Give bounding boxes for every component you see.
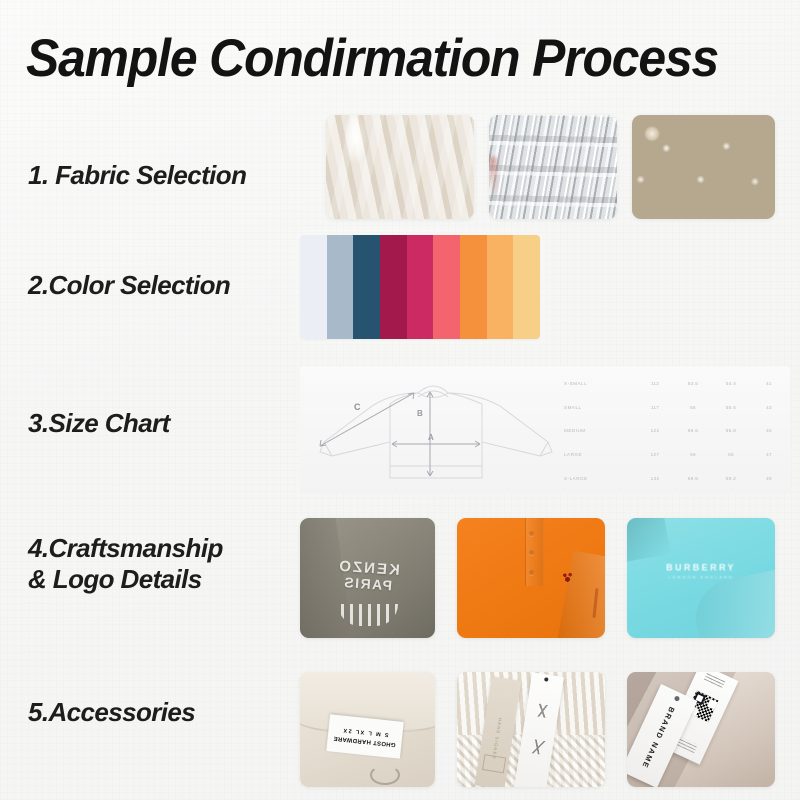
accessory-photo-brand-tag: BRAND NAME <box>627 672 775 787</box>
garment-technical-drawing-icon: A B C <box>302 366 560 494</box>
size-value: 41 <box>750 381 788 386</box>
table-row: LARGE 127 68 58 47 <box>560 452 788 457</box>
size-name: MEDIUM <box>560 428 636 433</box>
color-swatch-deep-teal-blue <box>353 235 380 339</box>
size-value: 49 <box>750 476 788 481</box>
size-name: X-SMALL <box>560 381 636 386</box>
size-value: 63.5 <box>674 381 712 386</box>
color-swatch-dark-crimson <box>380 235 407 339</box>
color-swatch-coral-red <box>433 235 460 339</box>
size-value: 117 <box>636 405 674 410</box>
kraft-tag-box <box>482 754 506 773</box>
step-label-fabric-selection: 1. Fabric Selection <box>28 160 246 191</box>
woven-size-label: GHOST HARDWARE S M L XL 2X <box>326 714 403 759</box>
size-value: 66.5 <box>674 428 712 433</box>
step-label-size-chart: 3.Size Chart <box>28 408 170 439</box>
svg-text:C: C <box>354 402 361 412</box>
fabric-drape <box>689 569 775 638</box>
step-label-accessories: 5.Accessories <box>28 697 195 728</box>
kenzo-print-text: KENZO PARIS <box>335 558 399 593</box>
tag-hole-icon <box>673 695 680 702</box>
table-row: X-LARGE 132 69.5 59.2 49 <box>560 476 788 481</box>
craft-photo-kenzo-print: KENZO PARIS <box>300 518 435 638</box>
color-swatch-orange <box>460 235 487 339</box>
color-swatch-light-orange <box>487 235 514 339</box>
color-swatch-golden-yellow <box>513 235 540 339</box>
step-label-craftsmanship: 4.Craftsmanship & Logo Details <box>28 533 223 594</box>
accessory-photo-care-label: GHOST HARDWARE S M L XL 2X <box>300 672 435 787</box>
size-value: 59.2 <box>712 476 750 481</box>
burberry-print-text: BURBERRY LONDON ENGLAND <box>666 562 736 579</box>
step-label-color-selection: 2.Color Selection <box>28 270 230 301</box>
polo-button-icon <box>529 570 534 575</box>
size-value: 68 <box>674 452 712 457</box>
color-swatch-magenta-pink <box>407 235 434 339</box>
svg-text:A: A <box>428 433 434 442</box>
size-value: 43 <box>750 405 788 410</box>
size-value: 45 <box>750 428 788 433</box>
polo-button-icon <box>529 531 534 536</box>
color-swatch-strip <box>300 235 540 339</box>
polo-button-icon <box>529 550 534 555</box>
color-swatch-pale-lavender <box>300 235 327 339</box>
size-name: SMALL <box>560 405 636 410</box>
craft-photo-burberry-print: BURBERRY LONDON ENGLAND <box>627 518 775 638</box>
table-row: X-SMALL 112 63.5 54.4 41 <box>560 381 788 386</box>
size-value: 54.4 <box>712 381 750 386</box>
fabric-swatch-boucle-beige <box>632 115 775 219</box>
polo-placket <box>525 518 544 586</box>
size-value: 47 <box>750 452 788 457</box>
embroidered-logo-icon <box>561 571 574 583</box>
size-value: 132 <box>636 476 674 481</box>
shoulder-shadow <box>627 518 671 561</box>
size-value: 122 <box>636 428 674 433</box>
size-value: 58 <box>712 452 750 457</box>
poster-root: Sample Condirmation Process 1. Fabric Se… <box>0 0 800 800</box>
table-row: SMALL 117 65 55.6 43 <box>560 405 788 410</box>
tag-microtext-top <box>704 672 726 688</box>
tag-hole-icon <box>544 677 549 682</box>
size-value: 127 <box>636 452 674 457</box>
size-chart-table: X-SMALL 112 63.5 54.4 41 SMALL 117 65 55… <box>560 368 790 494</box>
signature-mark-icon <box>530 703 554 719</box>
size-name: X-LARGE <box>560 476 636 481</box>
burberry-line-1: BURBERRY <box>666 562 736 572</box>
drawcord <box>370 765 400 785</box>
size-value: 55.6 <box>712 405 750 410</box>
size-value: 65 <box>674 405 712 410</box>
size-name: LARGE <box>560 452 636 457</box>
kraft-tag-text: HAND SIGNED <box>491 717 503 759</box>
signature-mark-icon <box>527 738 549 755</box>
page-title: Sample Condirmation Process <box>26 32 740 85</box>
kenzo-line-2: PARIS <box>335 574 398 593</box>
size-value: 56.8 <box>712 428 750 433</box>
burberry-line-2: LONDON ENGLAND <box>666 574 736 579</box>
size-value: 112 <box>636 381 674 386</box>
fabric-swatch-ribbed-grey <box>489 115 617 219</box>
table-row: MEDIUM 122 66.5 56.8 45 <box>560 428 788 433</box>
color-swatch-steel-blue-grey <box>327 235 354 339</box>
size-value: 69.5 <box>674 476 712 481</box>
accessory-photo-signature-tags: HAND SIGNED <box>457 672 605 787</box>
svg-text:B: B <box>417 409 423 418</box>
craft-photo-orange-polo <box>457 518 605 638</box>
fabric-swatch-cable-knit <box>326 115 474 219</box>
